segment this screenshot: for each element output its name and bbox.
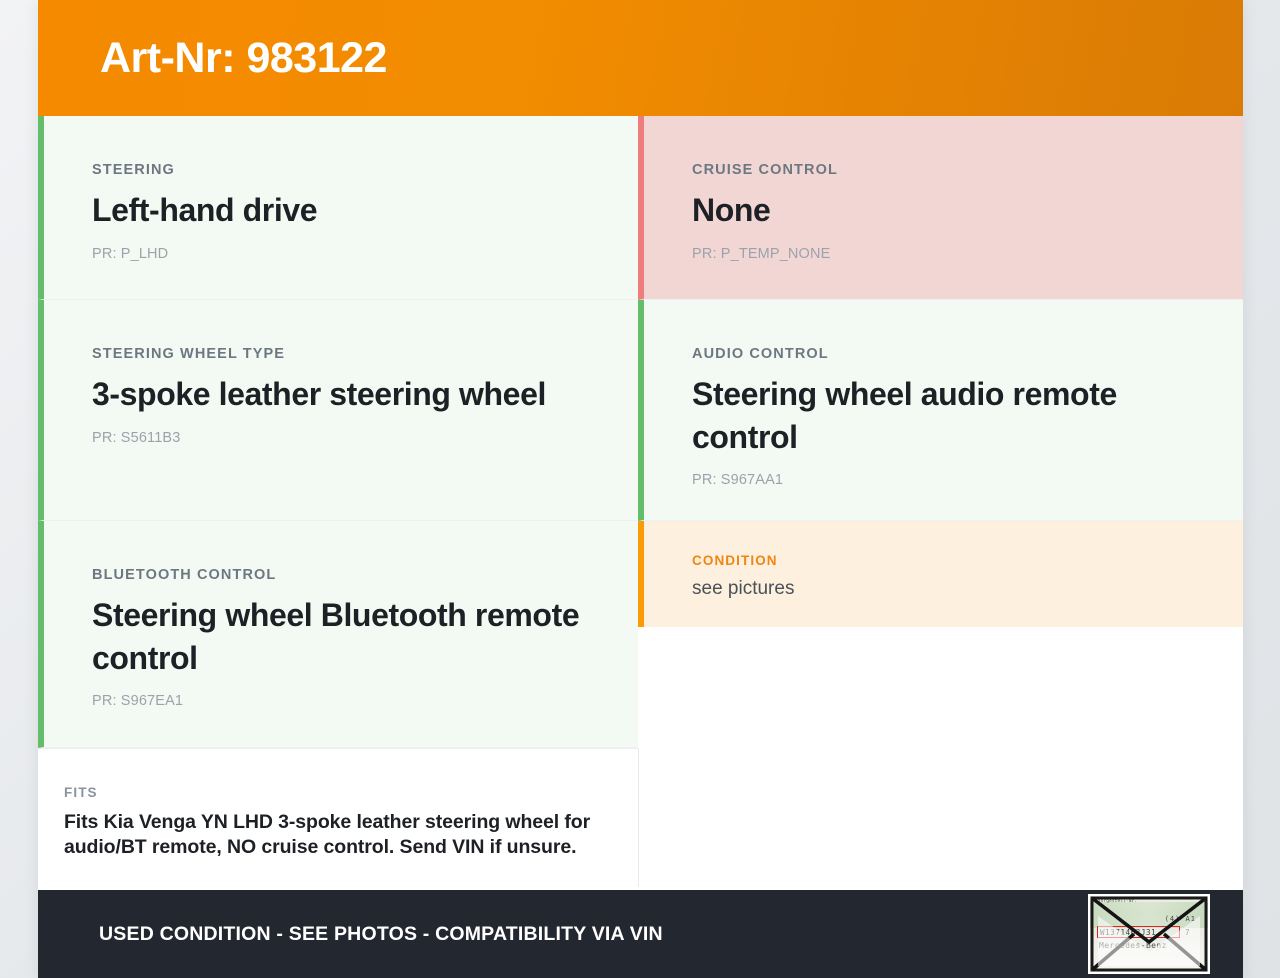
listing-footer: USED CONDITION - SEE PHOTOS - COMPATIBIL… — [38, 890, 1243, 978]
spec-label: CRUISE CONTROL — [692, 162, 1203, 179]
condition-value: see pictures — [692, 576, 1203, 601]
page-title: Art-Nr: 983122 — [100, 37, 387, 80]
spec-value: Steering wheel audio remote control — [692, 373, 1203, 458]
spec-label: STEERING WHEEL TYPE — [92, 346, 598, 363]
spec-cell: BLUETOOTH CONTROL Steering wheel Bluetoo… — [38, 521, 638, 748]
spec-code: PR: S967EA1 — [92, 693, 598, 709]
fits-cell: FITS Fits Kia Venga YN LHD 3-spoke leath… — [38, 748, 638, 887]
spec-value: 3-spoke leather steering wheel — [92, 373, 598, 416]
spec-cell: STEERING Left-hand drive PR: P_LHD — [38, 116, 638, 300]
spec-value: Left-hand drive — [92, 189, 598, 232]
spec-value: Steering wheel Bluetooth remote control — [92, 594, 598, 679]
spec-cell: CRUISE CONTROL None PR: P_TEMP_NONE — [638, 116, 1243, 300]
fits-value: Fits Kia Venga YN LHD 3-spoke leather st… — [64, 810, 598, 859]
spec-cell: STEERING WHEEL TYPE 3-spoke leather stee… — [38, 300, 638, 521]
page-root: Art-Nr: 983122 STEERING Left-hand drive … — [0, 0, 1280, 978]
condition-card: CONDITION see pictures — [638, 521, 1243, 627]
spec-label: STEERING — [92, 162, 598, 179]
spec-card-steering: STEERING Left-hand drive PR: P_LHD — [38, 116, 638, 300]
vin-document-thumbnail[interactable]: Fahrgestell-Nr. (4) A1 W1371463J31 7 Mer… — [1088, 894, 1210, 974]
spec-card-cruise-control: CRUISE CONTROL None PR: P_TEMP_NONE — [638, 116, 1243, 300]
listing-header: Art-Nr: 983122 — [38, 0, 1243, 116]
spec-value: None — [692, 189, 1203, 232]
spec-card-bluetooth-control: BLUETOOTH CONTROL Steering wheel Bluetoo… — [38, 521, 638, 748]
spec-label: AUDIO CONTROL — [692, 346, 1203, 363]
listing-card: Art-Nr: 983122 STEERING Left-hand drive … — [38, 0, 1243, 978]
spec-label: BLUETOOTH CONTROL — [92, 567, 598, 584]
spec-code: PR: P_LHD — [92, 246, 598, 262]
footer-banner-text: USED CONDITION - SEE PHOTOS - COMPATIBIL… — [99, 923, 663, 946]
fits-label: FITS — [64, 785, 598, 801]
spec-code: PR: S5611B3 — [92, 430, 598, 446]
condition-label: CONDITION — [692, 553, 1203, 569]
spec-card-audio-control: AUDIO CONTROL Steering wheel audio remot… — [638, 300, 1243, 521]
spec-cell: CONDITION see pictures — [638, 521, 1243, 748]
spec-code: PR: S967AA1 — [692, 472, 1203, 488]
spec-grid: STEERING Left-hand drive PR: P_LHD CRUIS… — [38, 116, 1243, 890]
envelope-icon — [1090, 896, 1208, 972]
fits-empty-cell — [638, 748, 1243, 887]
spec-cell: AUDIO CONTROL Steering wheel audio remot… — [638, 300, 1243, 521]
spec-code: PR: P_TEMP_NONE — [692, 246, 1203, 262]
spec-card-steering-wheel-type: STEERING WHEEL TYPE 3-spoke leather stee… — [38, 300, 638, 521]
fits-card: FITS Fits Kia Venga YN LHD 3-spoke leath… — [38, 749, 638, 887]
